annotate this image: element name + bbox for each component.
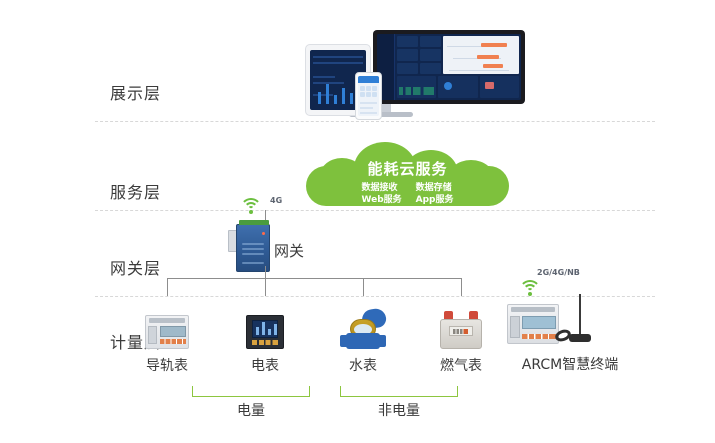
wifi-signal-icon <box>517 280 543 298</box>
meter-label-water: 水表 <box>314 355 412 375</box>
gateway-label: 网关 <box>274 240 304 261</box>
arcm-terminal-label: ARCM智慧终端 <box>495 354 645 374</box>
dashboard-map-panel <box>443 36 519 74</box>
bracket-electricity <box>192 386 310 397</box>
connector-gateway-down <box>265 266 266 278</box>
layer-label-display: 展示层 <box>110 80 200 104</box>
cloud-column-1: 数据接收 Web服务 <box>361 182 401 206</box>
layer-separator-1 <box>95 121 655 122</box>
connector-drop-3 <box>363 278 364 296</box>
meter-item-electric: 电表 <box>216 303 314 375</box>
layer-label-service: 服务层 <box>110 179 200 203</box>
meter-label-din-rail: 导轨表 <box>118 355 216 375</box>
din-rail-meter-icon <box>118 303 216 349</box>
arcm-terminal-icon <box>507 304 627 348</box>
wifi-signal-icon <box>238 198 264 216</box>
connector-drop-4 <box>461 278 462 296</box>
meter-item-din-rail: 导轨表 <box>118 303 216 375</box>
water-meter-icon <box>314 303 412 349</box>
meter-item-water: 水表 <box>314 303 412 375</box>
bracket-non-electricity <box>340 386 458 397</box>
display-layer-devices <box>305 8 535 118</box>
panel-electric-meter-icon <box>216 303 314 349</box>
cloud-icon: 能耗云服务 数据接收 Web服务 数据存储 App服务 <box>300 142 515 208</box>
gateway-network-tag: 4G <box>270 196 282 205</box>
cloud-column-2: 数据存储 App服务 <box>416 182 454 206</box>
layer-separator-2 <box>95 210 655 211</box>
antenna-base <box>569 334 591 342</box>
cloud-col2-line1: 数据存储 <box>416 182 454 194</box>
dashboard-widgets <box>397 76 519 98</box>
antenna-icon <box>579 294 581 336</box>
arcm-terminal-group: 2G/4G/NB ARCM智慧终端 <box>495 268 645 378</box>
architecture-diagram: 展示层 服务层 网关层 计量层 <box>0 0 715 443</box>
cloud-col1-line1: 数据接收 <box>361 182 401 194</box>
meter-label-electric: 电表 <box>216 355 314 375</box>
cloud-col2-line2: App服务 <box>416 194 454 206</box>
bracket-label-non-electricity: 非电量 <box>319 400 479 420</box>
dashboard-kpi-cards <box>397 36 441 74</box>
connector-drop-2 <box>265 278 266 296</box>
connector-bus-horizontal <box>167 278 461 279</box>
connector-drop-1 <box>167 278 168 296</box>
arcm-network-tag: 2G/4G/NB <box>537 268 580 277</box>
cloud-text: 能耗云服务 数据接收 Web服务 数据存储 App服务 <box>300 142 515 208</box>
cloud-title: 能耗云服务 <box>300 158 515 179</box>
cloud-col1-line2: Web服务 <box>361 194 401 206</box>
gateway-device-icon <box>236 224 270 272</box>
monitor-bezel <box>373 30 525 104</box>
smartphone-icon <box>355 72 382 120</box>
desktop-monitor-icon <box>373 30 525 104</box>
phone-screen <box>358 76 379 116</box>
monitor-screen <box>377 34 521 100</box>
bracket-label-electricity: 电量 <box>171 400 331 420</box>
layer-label-gateway: 网关层 <box>110 255 200 279</box>
dashboard-body <box>395 34 521 100</box>
